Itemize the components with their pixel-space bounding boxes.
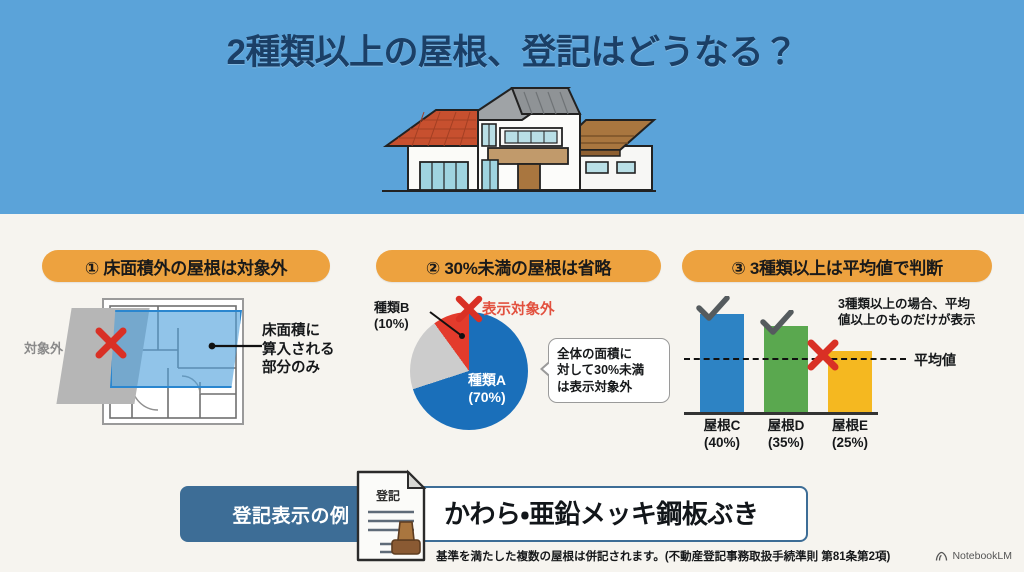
check-icon <box>696 296 730 322</box>
panel-average-value: ③ 3種類以上は平均値で判断 平均値 <box>678 250 1002 444</box>
callout-leader-icon <box>206 338 264 354</box>
bar-tick-roof-e-value: (25%) <box>815 435 885 452</box>
bar-tick-roof-d-value: (35%) <box>751 435 821 452</box>
bar-tick-roof-d: 屋根D (35%) <box>751 418 821 452</box>
panel-3-heading: ③ 3種類以上は平均値で判断 <box>682 250 992 282</box>
pie-chart: 種類A (70%) 種類B (10%) 表示対象外 全体の面積 <box>372 294 672 444</box>
bar-chart: 平均値 3種類以上の場合、平均 値以上のものだけが表示 屋根C (40%) 屋根… <box>678 294 1002 444</box>
notebooklm-icon <box>935 551 948 562</box>
footnote: 基準を満たした複数の屋根は併記されます。(不動産登記事務取扱手続準則 第81条第… <box>436 548 890 564</box>
header-band: 2種類以上の屋根、登記はどうなる？ <box>0 0 1024 214</box>
average-line-label: 平均値 <box>914 350 956 370</box>
bar-tick-roof-d-label: 屋根D <box>751 418 821 435</box>
panel-1-heading: ① 床面積外の屋根は対象外 <box>42 250 330 282</box>
bar-tick-roof-e-label: 屋根E <box>815 418 885 435</box>
red-x-icon <box>94 326 128 360</box>
infographic-page: 2種類以上の屋根、登記はどうなる？ <box>0 0 1024 572</box>
watermark: NotebookLM <box>935 550 1012 562</box>
included-callout-line-1: 床面積に <box>262 322 335 341</box>
pie-slice-a-value: (70%) <box>454 389 520 406</box>
watermark-label: NotebookLM <box>952 550 1012 562</box>
document-label: 登記 <box>375 488 400 503</box>
house-three-roofs-icon <box>372 84 658 196</box>
included-callout-line-3: 部分のみ <box>262 359 335 378</box>
excluded-area-label: 対象外 <box>24 338 63 357</box>
registration-example-strip: 登記表示の例 登記 かわら・亜鉛メッキ鋼板ぶき 基準を満たした複数の屋根は併記さ… <box>0 480 1024 572</box>
bar-tick-roof-c: 屋根C (40%) <box>687 418 757 452</box>
pie-slice-b-name: 種類B <box>374 300 409 316</box>
average-line <box>684 358 906 360</box>
registration-example-text: かわら・亜鉛メッキ鋼板ぶき <box>444 494 758 531</box>
pie-callout-line-2: 対して30%未満 <box>557 362 661 378</box>
pie-slice-a-label: 種類A (70%) <box>454 372 520 406</box>
bar-tick-roof-e: 屋根E (25%) <box>815 418 885 452</box>
red-x-icon <box>454 294 484 324</box>
average-note-line-1: 3種類以上の場合、平均 <box>838 296 1002 312</box>
check-icon <box>760 310 794 336</box>
red-x-icon <box>806 338 840 372</box>
bar-tick-roof-c-label: 屋根C <box>687 418 757 435</box>
panel-1-body: 対象外 床面積に 算入される 部分のみ <box>24 294 364 444</box>
pie-slice-a-name: 種類A <box>454 372 520 389</box>
bar-roof-d <box>764 326 808 412</box>
pie-callout-line-1: 全体の面積に <box>557 346 661 362</box>
included-area-callout: 床面積に 算入される 部分のみ <box>262 322 335 378</box>
document-stamp-icon: 登記 <box>350 468 432 564</box>
pie-callout-line-3: は表示対象外 <box>557 379 661 395</box>
pie-slice-b-value: (10%) <box>374 316 409 332</box>
bar-roof-c <box>700 314 744 412</box>
panel-3-body: 平均値 3種類以上の場合、平均 値以上のものだけが表示 屋根C (40%) 屋根… <box>678 294 1002 444</box>
pie-threshold-callout: 全体の面積に 対して30%未満 は表示対象外 <box>548 338 670 403</box>
panel-2-heading: ② 30%未満の屋根は省略 <box>376 250 661 282</box>
panel-2-body: 種類A (70%) 種類B (10%) 表示対象外 全体の面積 <box>372 294 672 444</box>
included-callout-line-2: 算入される <box>262 341 335 360</box>
floor-plan-diagram: 対象外 床面積に 算入される 部分のみ <box>24 294 364 444</box>
page-title: 2種類以上の屋根、登記はどうなる？ <box>0 24 1024 75</box>
average-note-line-2: 値以上のものだけが表示 <box>838 312 1002 328</box>
panel-floor-area: ① 床面積外の屋根は対象外 <box>24 250 364 444</box>
excluded-display-label: 表示対象外 <box>482 298 555 319</box>
panel-thirty-percent: ② 30%未満の屋根は省略 種類A (70%) 種類B (10%) <box>372 250 672 444</box>
pie-slice-b-label: 種類B (10%) <box>374 300 409 333</box>
bar-chart-baseline <box>684 412 878 415</box>
average-note: 3種類以上の場合、平均 値以上のものだけが表示 <box>838 296 1002 329</box>
bar-tick-roof-c-value: (40%) <box>687 435 757 452</box>
